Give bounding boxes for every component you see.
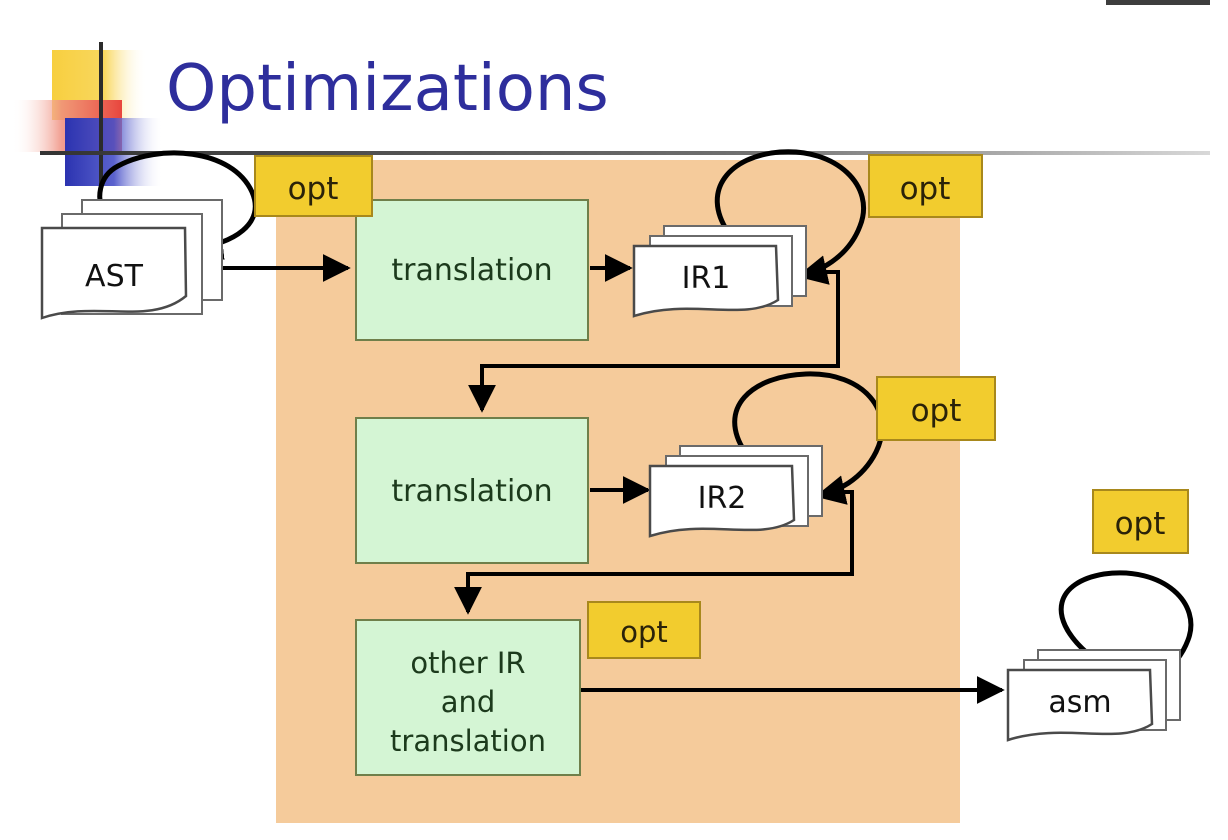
- opt-box-ast-label: opt: [288, 171, 339, 207]
- document-asm[interactable]: asm: [1008, 650, 1180, 740]
- top-right-bar: [1106, 0, 1210, 5]
- document-ir2[interactable]: IR2: [650, 446, 822, 536]
- opt-box-asm[interactable]: opt: [1093, 490, 1188, 553]
- process-translation-2-label: translation: [391, 474, 552, 509]
- opt-box-ir1-label: opt: [900, 171, 951, 207]
- opt-box-ir2[interactable]: opt: [877, 377, 995, 440]
- document-ast-label: AST: [85, 259, 144, 294]
- process-other-ir-line-2: and: [441, 685, 496, 719]
- document-ast[interactable]: AST: [42, 200, 222, 318]
- document-ir1[interactable]: IR1: [634, 226, 806, 316]
- process-translation-1[interactable]: translation: [356, 200, 588, 340]
- opt-box-ir2-label: opt: [911, 393, 962, 429]
- optimizations-diagram: Optimizations: [0, 0, 1228, 840]
- process-nodes: translation translation other IR and tra…: [356, 200, 588, 775]
- opt-box-other-ir-label: opt: [620, 615, 668, 649]
- slide-canvas: Optimizations: [0, 0, 1228, 840]
- process-other-ir-line-1: other IR: [410, 646, 525, 680]
- opt-box-other-ir[interactable]: opt: [588, 602, 700, 658]
- process-translation-2[interactable]: translation: [356, 418, 588, 563]
- opt-box-ir1[interactable]: opt: [869, 155, 982, 217]
- process-translation-1-label: translation: [391, 253, 552, 288]
- document-ir1-label: IR1: [682, 261, 731, 296]
- opt-box-asm-label: opt: [1115, 506, 1166, 542]
- document-asm-label: asm: [1048, 685, 1111, 720]
- process-other-ir-line-3: translation: [390, 724, 546, 758]
- logo-horizontal-rule: [40, 151, 1210, 155]
- opt-box-ast[interactable]: opt: [255, 156, 372, 216]
- document-ir2-label: IR2: [698, 481, 747, 516]
- page-title: Optimizations: [166, 52, 609, 126]
- process-other-ir[interactable]: other IR and translation: [356, 620, 580, 775]
- logo-vertical-rule: [99, 42, 103, 186]
